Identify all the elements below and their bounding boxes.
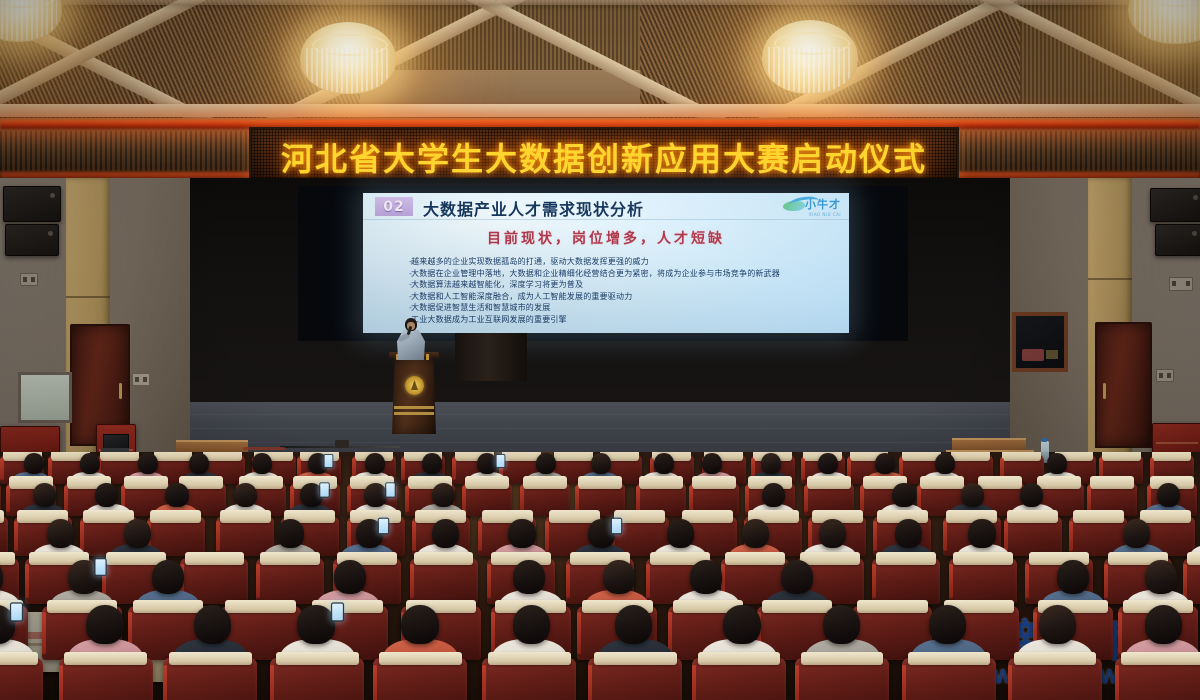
seat-edge bbox=[1183, 564, 1187, 599]
seat-edge bbox=[270, 665, 274, 700]
audience-member-head bbox=[667, 519, 694, 548]
stage-floor-box bbox=[335, 440, 349, 448]
seat-edge bbox=[577, 612, 581, 653]
audience-member-head bbox=[252, 453, 272, 474]
seat-headrest-cover bbox=[857, 600, 927, 613]
seat-headrest-cover bbox=[1152, 452, 1191, 461]
podium-band bbox=[394, 406, 434, 409]
audience-member-head bbox=[432, 519, 459, 548]
slide-bullet-item: 大数据和人工智能深度融合，成为人工智能发展的重要驱动力 bbox=[409, 291, 833, 302]
audience-member-head bbox=[818, 453, 838, 474]
chandelier-icon bbox=[762, 20, 858, 94]
smartphone-icon bbox=[611, 518, 622, 535]
seat-headrest-cover bbox=[0, 552, 15, 565]
audience-member-head bbox=[1123, 519, 1150, 548]
seat-headrest-cover bbox=[1073, 510, 1124, 523]
seat-headrest-cover bbox=[639, 476, 683, 489]
seat-headrest-cover bbox=[379, 652, 462, 665]
audience-member-head bbox=[422, 453, 442, 474]
door-handle-icon bbox=[1103, 383, 1106, 399]
presenter bbox=[396, 318, 426, 358]
seat-headrest-cover bbox=[1007, 510, 1058, 523]
seat-headrest-cover bbox=[0, 652, 38, 665]
slide-bullet-item: 大数据在企业管理中落地，大数据和企业精细化经营结合更为紧密，将成为企业参与市场竞… bbox=[409, 268, 833, 279]
audience-member-head bbox=[334, 560, 366, 594]
audience-member-head bbox=[781, 560, 813, 594]
podium bbox=[392, 352, 436, 434]
seat-headrest-cover bbox=[203, 452, 242, 461]
slide-bullet-item: 大数据算法越来越智能化，深度学习将更为普及 bbox=[409, 279, 833, 290]
audience-member-head bbox=[432, 483, 455, 507]
door-handle-icon bbox=[119, 383, 122, 399]
seat-headrest-cover bbox=[465, 476, 509, 489]
seat-edge bbox=[491, 612, 495, 653]
right-speaker-lower bbox=[1155, 224, 1200, 256]
logo-subtext: XIAO NIU CAI bbox=[809, 212, 841, 217]
seat-edge bbox=[216, 521, 220, 551]
seat-edge bbox=[520, 486, 524, 512]
smartphone-icon bbox=[378, 518, 389, 535]
slide-logo: 小牛才 XIAO NIU CAI bbox=[783, 196, 841, 216]
projection-slide: 02 大数据产业人才需求现状分析 小牛才 XIAO NIU CAI 目前现状，岗… bbox=[363, 193, 849, 333]
logo-text: 小牛才 bbox=[805, 196, 841, 212]
seat-edge bbox=[401, 458, 405, 481]
theater-seat bbox=[1004, 516, 1062, 556]
audience-member-head bbox=[742, 519, 769, 548]
seat-headrest-cover bbox=[414, 552, 474, 565]
laptop-icon[interactable] bbox=[101, 434, 129, 449]
audience-member-head bbox=[165, 483, 188, 507]
seat-edge bbox=[943, 521, 947, 551]
audience-member-head bbox=[1145, 605, 1183, 644]
seat-edge bbox=[873, 521, 877, 551]
audience-member-head bbox=[968, 519, 995, 548]
ceiling bbox=[0, 0, 1200, 128]
seat-headrest-cover bbox=[554, 452, 593, 461]
seat-headrest-cover bbox=[800, 552, 860, 565]
university-crest-icon bbox=[405, 376, 424, 395]
seat-edge bbox=[482, 665, 486, 700]
seat-edge bbox=[860, 486, 864, 512]
led-banner-text: 河北省大学生大数据创新应用大赛启动仪式 bbox=[281, 134, 927, 180]
theater-seat bbox=[588, 658, 682, 700]
seat-edge bbox=[588, 665, 592, 700]
seat-edge bbox=[478, 521, 482, 551]
seat-headrest-cover bbox=[260, 552, 320, 565]
audience-member-head bbox=[819, 519, 846, 548]
theater-seat bbox=[270, 658, 364, 700]
audience-member-head bbox=[513, 560, 545, 594]
seat-headrest-cover bbox=[807, 476, 851, 489]
audience-member-head bbox=[761, 453, 781, 474]
seat-edge bbox=[452, 458, 456, 481]
seat-headrest-cover bbox=[978, 476, 1022, 489]
seat-headrest-cover bbox=[276, 652, 359, 665]
slide-title: 大数据产业人才需求现状分析 bbox=[423, 196, 644, 220]
seat-headrest-cover bbox=[908, 652, 991, 665]
audience-member-head bbox=[723, 605, 761, 644]
audience-member-head bbox=[935, 453, 955, 474]
seat-edge bbox=[745, 486, 749, 512]
audience-member-head bbox=[892, 483, 915, 507]
seat-headrest-cover bbox=[1187, 552, 1200, 565]
seat-edge bbox=[1008, 665, 1012, 700]
right-wall-socket[interactable] bbox=[1156, 369, 1174, 382]
seat-headrest-cover bbox=[578, 476, 622, 489]
podium-body bbox=[392, 358, 436, 434]
seat-headrest-cover bbox=[488, 652, 571, 665]
audience-member-head bbox=[297, 605, 335, 644]
theater-seat bbox=[410, 558, 478, 604]
seat-edge bbox=[25, 564, 29, 599]
audience-member-head bbox=[895, 519, 922, 548]
theater-seat bbox=[0, 658, 43, 700]
theater-seat bbox=[163, 658, 257, 700]
seat-edge bbox=[872, 564, 876, 599]
seat-headrest-cover bbox=[762, 600, 832, 613]
audience-member-head bbox=[152, 560, 184, 594]
audience-member-head bbox=[654, 453, 674, 474]
audience-member-head bbox=[24, 453, 44, 474]
left-whiteboard bbox=[18, 372, 72, 423]
theater-seat bbox=[1115, 658, 1200, 700]
slide-bullet-list: 越来越多的企业实现数据孤岛的打通，驱动大数据发挥更强的威力大数据在企业管理中落地… bbox=[397, 256, 833, 325]
audience-member-head bbox=[690, 560, 722, 594]
audience-member-head bbox=[513, 605, 551, 644]
audience-member-head bbox=[929, 605, 967, 644]
seat-headrest-cover bbox=[83, 510, 134, 523]
seat-edge bbox=[804, 486, 808, 512]
audience-member-head bbox=[80, 453, 100, 474]
podium-band bbox=[394, 412, 434, 415]
audience-member-head bbox=[615, 605, 653, 644]
left-speaker-upper bbox=[3, 186, 61, 222]
stage-curtain bbox=[455, 333, 527, 381]
audience-member-head bbox=[47, 519, 74, 548]
theater-seat bbox=[1008, 658, 1102, 700]
seat-headrest-cover bbox=[124, 476, 168, 489]
seat-edge bbox=[1115, 665, 1119, 700]
auditorium-photo: 河北省大学生大数据创新应用大赛启动仪式 02 大数 bbox=[0, 0, 1200, 700]
seat-headrest-cover bbox=[523, 476, 567, 489]
seat-edge bbox=[42, 612, 46, 653]
audience-member-head bbox=[194, 605, 232, 644]
seat-headrest-cover bbox=[185, 552, 245, 565]
audience-member-head bbox=[189, 453, 209, 474]
seat-edge bbox=[462, 486, 466, 512]
seat-edge bbox=[6, 486, 10, 512]
presenter-torso bbox=[397, 330, 425, 360]
seat-edge bbox=[1087, 486, 1091, 512]
theater-seat bbox=[59, 658, 153, 700]
theater-seat bbox=[482, 658, 576, 700]
smartphone-icon bbox=[331, 602, 344, 621]
seat-edge bbox=[575, 486, 579, 512]
seat-edge bbox=[410, 564, 414, 599]
seat-headrest-cover bbox=[64, 652, 147, 665]
theater-seat bbox=[0, 516, 8, 556]
slide-subtitle: 目前现状，岗位增多，人才短缺 bbox=[363, 228, 849, 248]
left-wall-socket[interactable] bbox=[132, 373, 150, 386]
audience-member-head bbox=[591, 453, 611, 474]
seat-edge bbox=[692, 665, 696, 700]
control-room-window bbox=[1012, 312, 1068, 372]
seat-headrest-cover bbox=[1002, 452, 1041, 461]
seat-headrest-cover bbox=[682, 510, 733, 523]
seat-edge bbox=[487, 564, 491, 599]
seat-headrest-cover bbox=[876, 552, 936, 565]
seat-edge bbox=[636, 486, 640, 512]
seat-edge bbox=[566, 564, 570, 599]
seat-headrest-cover bbox=[169, 652, 252, 665]
seat-headrest-cover bbox=[698, 652, 781, 665]
seat-edge bbox=[373, 665, 377, 700]
chandelier-icon bbox=[300, 22, 396, 94]
seat-edge bbox=[795, 665, 799, 700]
seat-headrest-cover bbox=[920, 476, 964, 489]
left-speaker-lower bbox=[5, 224, 59, 256]
seat-headrest-cover bbox=[1014, 652, 1097, 665]
audience-member-head bbox=[1047, 453, 1067, 474]
audience-member-head bbox=[138, 453, 158, 474]
seat-headrest-cover bbox=[1090, 476, 1134, 489]
theater-seat bbox=[692, 658, 786, 700]
smartphone-icon bbox=[10, 602, 23, 621]
audience-member-head bbox=[364, 483, 387, 507]
audience-member-head bbox=[961, 483, 984, 507]
seat-headrest-cover bbox=[150, 510, 201, 523]
seat-headrest-cover bbox=[594, 652, 677, 665]
seat-headrest-cover bbox=[953, 552, 1013, 565]
theater-seat bbox=[256, 558, 324, 604]
smartphone-icon bbox=[385, 482, 396, 497]
left-wall-outlet[interactable] bbox=[20, 273, 38, 286]
audience-member-head bbox=[536, 453, 556, 474]
theater-seat bbox=[872, 558, 940, 604]
audience-member-head bbox=[508, 519, 535, 548]
audience-member-head bbox=[234, 483, 257, 507]
audience-member-head bbox=[277, 519, 304, 548]
seat-headrest-cover bbox=[154, 452, 193, 461]
smartphone-icon bbox=[94, 558, 106, 576]
audience-member-head bbox=[401, 605, 439, 644]
seat-edge bbox=[902, 665, 906, 700]
audience-member-head bbox=[1020, 483, 1043, 507]
seat-headrest-cover bbox=[801, 652, 884, 665]
seat-edge bbox=[1025, 564, 1029, 599]
seat-headrest-cover bbox=[692, 476, 736, 489]
audience-member-head bbox=[1039, 605, 1077, 644]
theater-seat bbox=[373, 658, 467, 700]
seat-headrest-cover bbox=[100, 452, 139, 461]
seat-edge bbox=[256, 564, 260, 599]
seat-headrest-cover bbox=[725, 552, 785, 565]
seat-headrest-cover bbox=[225, 600, 295, 613]
seat-edge bbox=[163, 665, 167, 700]
slide-bullet-item: 大数据促进智慧生活和智慧城市的发展 bbox=[409, 302, 833, 313]
seat-edge bbox=[1118, 612, 1122, 653]
audience-member-head bbox=[365, 453, 385, 474]
seat-edge bbox=[80, 521, 84, 551]
seat-headrest-cover bbox=[1140, 510, 1191, 523]
seat-headrest-cover bbox=[951, 452, 990, 461]
seat-headrest-cover bbox=[220, 510, 271, 523]
audience-member-head bbox=[33, 483, 56, 507]
audience-member-head bbox=[477, 453, 497, 474]
audience-member-head bbox=[823, 605, 861, 644]
right-speaker-upper bbox=[1150, 188, 1200, 222]
audience-member-head bbox=[1157, 483, 1180, 507]
seat-edge bbox=[1104, 564, 1108, 599]
seat-edge bbox=[14, 521, 18, 551]
theater-seat bbox=[902, 658, 996, 700]
audience-member-head bbox=[603, 560, 635, 594]
audience-member-head bbox=[1145, 560, 1177, 594]
audience-member-head bbox=[875, 453, 895, 474]
seat-headrest-cover bbox=[502, 452, 541, 461]
theater-seat bbox=[795, 658, 889, 700]
slide-section-number: 02 bbox=[375, 197, 413, 216]
audience-member-head bbox=[702, 453, 722, 474]
seat-headrest-cover bbox=[0, 510, 4, 523]
seat-headrest-cover bbox=[1037, 476, 1081, 489]
slide-bullet-item: 越来越多的企业实现数据孤岛的打通，驱动大数据发挥更强的威力 bbox=[409, 256, 833, 267]
audience-member-head bbox=[86, 605, 124, 644]
seat-edge bbox=[801, 458, 805, 481]
seat-edge bbox=[59, 665, 63, 700]
smartphone-icon bbox=[324, 454, 334, 468]
right-door[interactable] bbox=[1095, 322, 1152, 448]
slide-bullet-item: 工业大数据成为工业互联网发展的重要引擎 bbox=[409, 314, 833, 325]
theater-seat bbox=[949, 558, 1017, 604]
seat-edge bbox=[405, 486, 409, 512]
seat-edge bbox=[412, 521, 416, 551]
audience-member-head bbox=[124, 519, 151, 548]
seat-edge bbox=[0, 458, 4, 481]
audience-member-head bbox=[762, 483, 785, 507]
seat-headrest-cover bbox=[1102, 452, 1141, 461]
seat-edge bbox=[64, 486, 68, 512]
smartphone-icon bbox=[495, 454, 505, 468]
audience-seating bbox=[0, 452, 1200, 700]
seat-edge bbox=[545, 521, 549, 551]
right-wall-outlet[interactable] bbox=[1169, 277, 1193, 291]
seat-edge bbox=[646, 564, 650, 599]
seat-edge bbox=[1004, 521, 1008, 551]
audience-member-head bbox=[95, 483, 118, 507]
seat-headrest-cover bbox=[1121, 652, 1200, 665]
seat-headrest-cover bbox=[133, 600, 203, 613]
seat-edge bbox=[1069, 521, 1073, 551]
seat-edge bbox=[949, 564, 953, 599]
stage-cable-red bbox=[243, 447, 285, 450]
seat-edge bbox=[347, 486, 351, 512]
audience-member-head bbox=[1057, 560, 1089, 594]
smartphone-icon bbox=[319, 482, 330, 497]
seat-edge bbox=[689, 486, 693, 512]
